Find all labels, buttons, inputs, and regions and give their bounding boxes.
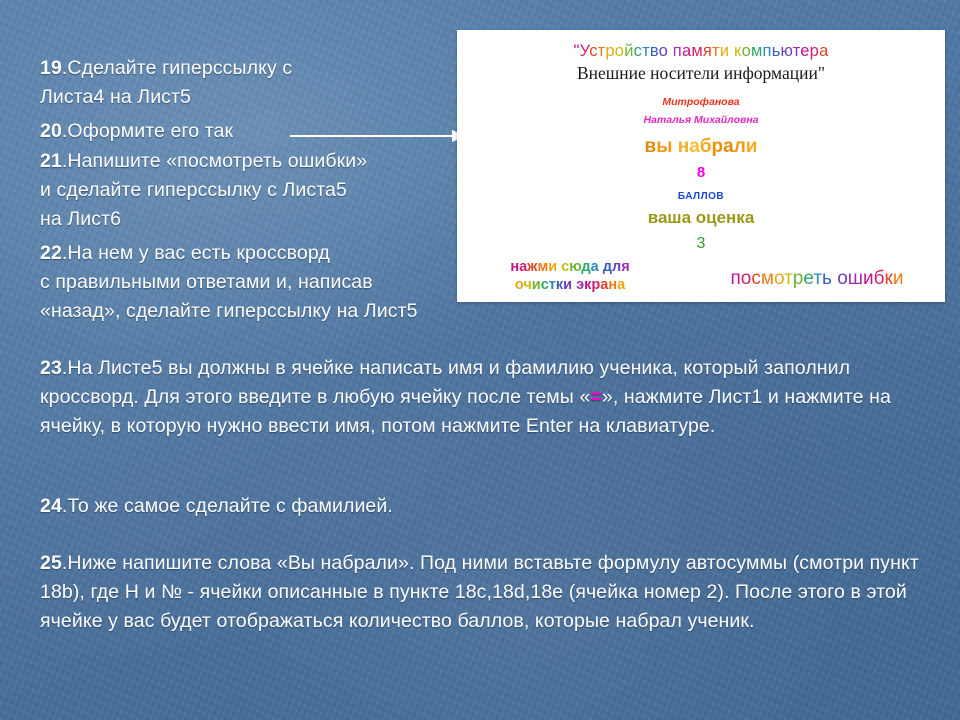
screenshot-points-label: БАЛЛОВ [457, 191, 945, 202]
item-19-line-2: Листа4 на Лист5 [40, 86, 191, 108]
clear-link-line-1: нажми сюда для [465, 258, 675, 276]
list-item-25: 25.Ниже напишите слова «Вы набрали». Под… [40, 549, 920, 636]
item-number-24: 24 [40, 495, 62, 517]
item-number-20: 20 [40, 120, 62, 142]
item-24-line-1: То же самое сделайте с фамилией. [67, 495, 392, 517]
item-21-line-3: на Лист6 [40, 208, 121, 230]
item-22-line-1: На нем у вас есть кроссворд [67, 242, 329, 264]
screenshot-mark-label: ваша оценка [457, 208, 945, 228]
screenshot-title-line-2: Внешние носители информации" [457, 63, 945, 84]
item-number-21: 21 [40, 150, 62, 172]
screenshot-clear-screen-link[interactable]: нажми сюда для очистки экрана [465, 258, 675, 294]
item-22-line-3: «назад», сделайте гиперссылку на Лист5 [40, 300, 418, 322]
pointer-arrow-icon [290, 130, 468, 142]
item-number-23: 23 [40, 357, 62, 379]
screenshot-mark-value: 3 [457, 235, 945, 253]
item-25-line-1: Ниже напишите слова «Вы набрали». Под ни… [40, 552, 919, 632]
list-item-22: 22.На нем у вас есть кроссворд с правиль… [40, 239, 470, 326]
item-number-25: 25 [40, 552, 62, 574]
screenshot-scored-label: вы набрали [457, 136, 945, 158]
screenshot-score-value: 8 [457, 164, 945, 181]
item-20-line-1: Оформите его так [67, 120, 233, 142]
screenshot-author-name: Наталья Михайловна [457, 114, 945, 126]
screenshot-title-line-1: "Устройство памяти компьютера [457, 42, 945, 61]
screenshot-author-surname: Митрофанова [457, 96, 945, 108]
slide-canvas: 19.Сделайте гиперссылку с Листа4 на Лист… [0, 0, 960, 720]
item-21-line-1: Напишите «посмотреть ошибки» [67, 150, 367, 172]
list-item-24: 24.То же самое сделайте с фамилией. [40, 492, 920, 521]
equals-symbol: = [590, 386, 602, 408]
item-21-line-2: и сделайте гиперссылку с Листа5 [40, 179, 347, 201]
screenshot-view-errors-link[interactable]: посмотреть ошибки [697, 268, 937, 290]
item-19-line-1: Сделайте гиперссылку с [67, 57, 292, 79]
list-item-21: 21.Напишите «посмотреть ошибки» и сделай… [40, 147, 470, 234]
list-item-19: 19.Сделайте гиперссылку с Листа4 на Лист… [40, 54, 470, 112]
arrow-shaft [290, 135, 458, 137]
item-number-19: 19 [40, 57, 62, 79]
item-22-line-2: с правильными ответами и, написав [40, 271, 373, 293]
list-item-23: 23.На Листе5 вы должны в ячейке написать… [40, 354, 920, 441]
clear-link-line-2: очистки экрана [465, 276, 675, 294]
embedded-screenshot: "Устройство памяти компьютера Внешние но… [457, 30, 945, 302]
item-number-22: 22 [40, 242, 62, 264]
